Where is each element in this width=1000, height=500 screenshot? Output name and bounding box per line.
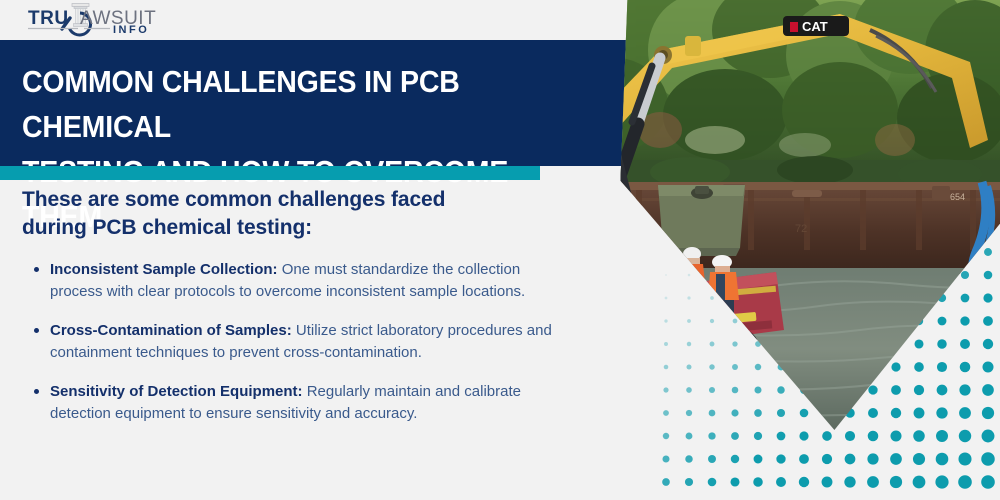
title-banner: COMMON CHALLENGES IN PCB CHEMICAL TESTIN…: [0, 40, 583, 166]
media-stack: 654 72 CAT: [540, 0, 1000, 500]
teal-accent-bar: [0, 166, 540, 180]
infographic-canvas: 654 72 CAT: [0, 0, 1000, 500]
logo-text-info: INFO: [113, 24, 149, 36]
list-item: Cross-Contamination of Samples: Utilize …: [22, 320, 552, 364]
challenge-term: Sensitivity of Detection Equipment:: [50, 383, 303, 400]
bullet-marker-icon: [34, 267, 39, 272]
list-item: Sensitivity of Detection Equipment: Regu…: [22, 381, 552, 425]
svg-text:654: 654: [950, 192, 965, 202]
bullet-marker-icon: [34, 328, 39, 333]
challenge-term: Inconsistent Sample Collection:: [50, 261, 278, 278]
challenge-term: Cross-Contamination of Samples:: [50, 322, 292, 339]
svg-text:72: 72: [795, 223, 807, 235]
content-area: These are some common challenges faced d…: [22, 186, 552, 425]
bullet-marker-icon: [34, 389, 39, 394]
list-item: Inconsistent Sample Collection: One must…: [22, 259, 552, 303]
logo-text-tru: TRU: [28, 8, 69, 29]
subtitle: These are some common challenges faced d…: [22, 186, 552, 242]
svg-text:CAT: CAT: [802, 19, 828, 34]
trulawsuit-info-logo[interactable]: TRU AWSUIT INFO: [18, 2, 168, 38]
challenges-list: Inconsistent Sample Collection: One must…: [22, 259, 552, 425]
